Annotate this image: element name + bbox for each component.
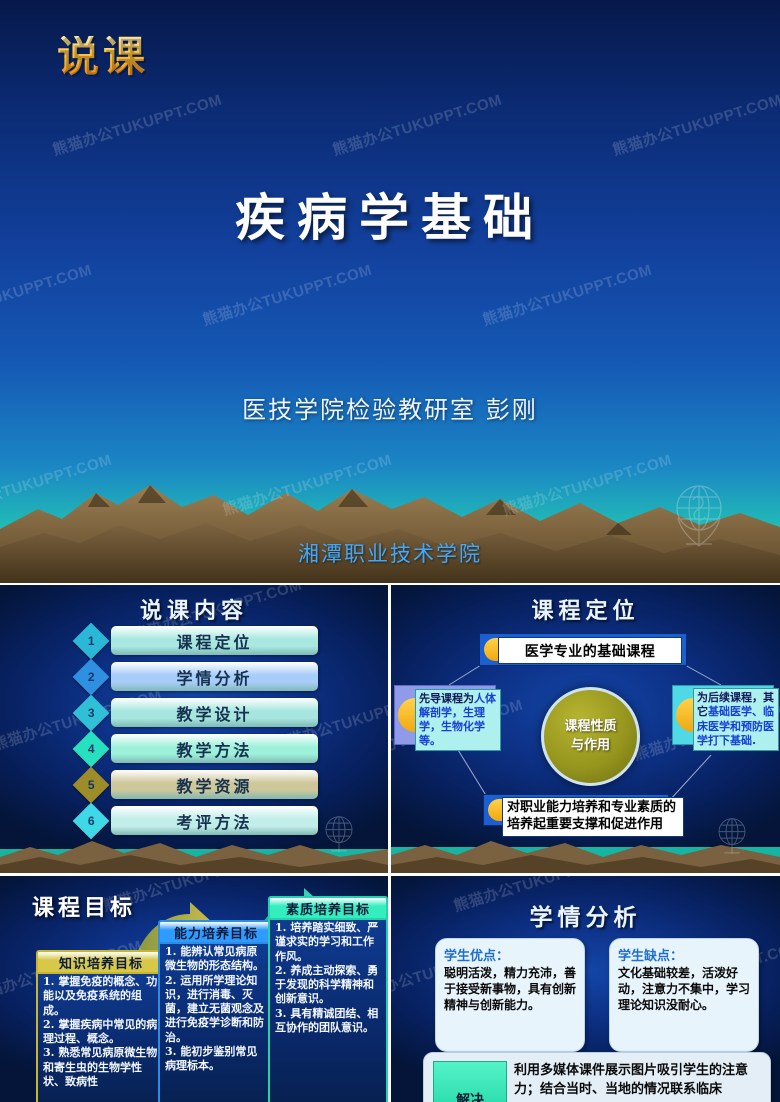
who-emblem-icon (316, 807, 362, 857)
author-line: 医技学院检验教研室 彭刚 (0, 390, 780, 425)
item-number-diamond: 1 (73, 623, 110, 660)
school-name: 湘潭职业技术学院 (0, 538, 780, 568)
contents-item-label: 教学设计 (176, 701, 252, 725)
pros-header: 学生优点： (444, 945, 576, 964)
item-number-diamond: 5 (73, 767, 110, 804)
solution-text: 利用多媒体课件展示图片吸引学生的注意力；结合当时、当地的情况联系临床 (514, 1062, 764, 1100)
item-number: 4 (88, 742, 95, 756)
contents-item-label: 考评方法 (176, 809, 252, 833)
goal-box-header-label: 知识培养目标 (59, 953, 143, 972)
position-right-box[interactable]: 为后续课程，其它基础医学、临床医学和预防医学打下基础. (672, 685, 774, 745)
contents-item-label: 教学方法 (176, 737, 252, 761)
contents-item-3[interactable]: 3教学设计 (78, 698, 318, 727)
goal-box-body: 1. 能辨认常见病原微生物的形态结构。2. 运用所学理论知识，进行消毒、灭菌，建… (160, 940, 272, 1074)
goal-box-header-label: 素质培养目标 (286, 899, 370, 918)
contents-item-label-bar[interactable]: 教学设计 (111, 698, 318, 727)
center-line-1: 课程性质 (564, 718, 616, 737)
slide-course-position[interactable]: 熊猫办公TUKUPPT.COM 熊猫办公TUKUPPT.COM 课程定位 医学专… (391, 585, 780, 873)
contents-item-label: 学情分析 (176, 665, 252, 689)
position-center-circle: 课程性质 与作用 (541, 687, 640, 786)
contents-item-4[interactable]: 4教学方法 (78, 734, 318, 763)
slide-title[interactable]: 熊猫办公TUKUPPT.COM 熊猫办公TUKUPPT.COM 熊猫办公TUKU… (0, 0, 780, 583)
slide-student-analysis[interactable]: 熊猫办公TUKUPPT.COM 熊猫办公TUKUPPT.COM 熊猫办公TUKU… (391, 876, 780, 1102)
goal-box-header: 能力培养目标 (158, 920, 274, 944)
position-top-box[interactable]: 医学专业的基础课程 (479, 633, 687, 666)
right-text-b: 基础医学、临床医学和预防医学打下基础. (697, 705, 774, 747)
goal-line: 2. 养成主动探索、勇于发现的科学精神和创新意识。 (275, 964, 381, 1007)
contents-item-label: 课程定位 (176, 629, 252, 653)
contents-list[interactable]: 1课程定位2学情分析3教学设计4教学方法5教学资源6考评方法 (78, 626, 318, 842)
contents-item-2[interactable]: 2学情分析 (78, 662, 318, 691)
contents-item-label-bar[interactable]: 教学资源 (111, 770, 318, 799)
item-number-diamond: 2 (73, 659, 110, 696)
goal-box-3[interactable]: 素质培养目标1. 培养踏实细致、严谨求实的学习和工作作风。2. 养成主动探索、勇… (268, 914, 388, 1102)
contents-item-label-bar[interactable]: 考评方法 (111, 806, 318, 835)
solution-box[interactable]: 解决 利用多媒体课件展示图片吸引学生的注意力；结合当时、当地的情况联系临床 (423, 1052, 771, 1102)
item-number-diamond: 6 (73, 803, 110, 840)
goal-line: 3. 熟悉常见病原微生物和寄生虫的生物学性状、致病性 (43, 1046, 159, 1089)
speech-lesson-logo: 说课 (57, 36, 149, 78)
slide-divider-vertical (388, 583, 391, 1102)
goal-line: 2. 运用所学理论知识，进行消毒、灭菌，建立无菌观念及进行免疫学诊断和防治。 (165, 974, 267, 1045)
item-number: 5 (88, 778, 95, 792)
goal-line: 1. 能辨认常见病原微生物的形态结构。 (165, 945, 267, 974)
student-cons-box[interactable]: 学生缺点： 文化基础较差，活泼好动，注意力不集中，学习理论知识没耐心。 (609, 938, 759, 1052)
item-number: 6 (88, 814, 95, 828)
slide-contents[interactable]: 熊猫办公TUKUPPT.COM 熊猫办公TUKUPPT.COM 熊猫办公TUKU… (0, 585, 388, 873)
position-bottom-box[interactable]: 对职业能力培养和专业素质的培养起重要支撑和促进作用 (483, 794, 669, 826)
position-bottom-text: 对职业能力培养和专业素质的培养起重要支撑和促进作用 (502, 797, 684, 837)
position-top-text: 医学专业的基础课程 (498, 637, 682, 664)
position-left-box[interactable]: 先导课程为人体解剖学，生理学，生物化学等。 (394, 685, 496, 745)
slide-course-goals[interactable]: 熊猫办公TUKUPPT.COM 熊猫办公TUKUPPT.COM 熊猫办公TUKU… (0, 876, 388, 1102)
slide2-title: 说课内容 (0, 593, 388, 625)
goal-line: 3. 具有精诚团结、相互协作的团队意识。 (275, 1007, 381, 1036)
position-left-text: 先导课程为人体解剖学，生理学，生物化学等。 (415, 689, 501, 751)
item-number-diamond: 3 (73, 695, 110, 732)
item-number-diamond: 4 (73, 731, 110, 768)
position-right-text: 为后续课程，其它基础医学、临床医学和预防医学打下基础. (693, 688, 779, 751)
slide-deck-preview: 熊猫办公TUKUPPT.COM 熊猫办公TUKUPPT.COM 熊猫办公TUKU… (0, 0, 780, 1102)
slide3-title: 课程定位 (391, 593, 780, 625)
slide5-title: 学情分析 (391, 898, 780, 932)
goal-box-1[interactable]: 知识培养目标1. 掌握免疫的概念、功能以及免疫系统的组成。2. 掌握疾病中常见的… (36, 968, 166, 1102)
goal-line: 2. 掌握疾病中常见的病理过程、概念。 (43, 1018, 159, 1047)
goal-box-body: 1. 培养踏实细致、严谨求实的学习和工作作风。2. 养成主动探索、勇于发现的科学… (270, 916, 386, 1035)
student-pros-box[interactable]: 学生优点： 聪明活泼，精力充沛，善于接受新事物，具有创新精神与创新能力。 (435, 938, 585, 1052)
contents-item-5[interactable]: 5教学资源 (78, 770, 318, 799)
item-number: 3 (88, 706, 95, 720)
goal-box-2[interactable]: 能力培养目标1. 能辨认常见病原微生物的形态结构。2. 运用所学理论知识，进行消… (158, 938, 274, 1102)
contents-item-label-bar[interactable]: 课程定位 (111, 626, 318, 655)
goal-box-header: 素质培养目标 (268, 896, 388, 920)
contents-item-label-bar[interactable]: 教学方法 (111, 734, 318, 763)
cons-text: 文化基础较差，活泼好动，注意力不集中，学习理论知识没耐心。 (618, 966, 750, 1013)
pros-text: 聪明活泼，精力充沛，善于接受新事物，具有创新精神与创新能力。 (444, 966, 576, 1013)
contents-item-label: 教学资源 (176, 773, 252, 797)
goal-box-header: 知识培养目标 (36, 950, 166, 974)
goal-line: 3. 能初步鉴别常见病理标本。 (165, 1045, 267, 1074)
cons-header: 学生缺点： (618, 945, 750, 964)
item-number: 2 (88, 670, 95, 684)
page-title: 疾病学基础 (0, 178, 780, 250)
solution-label: 解决 (433, 1061, 507, 1102)
slide4-title: 课程目标 (32, 890, 136, 922)
contents-item-1[interactable]: 1课程定位 (78, 626, 318, 655)
goal-line: 1. 掌握免疫的概念、功能以及免疫系统的组成。 (43, 975, 159, 1018)
contents-item-6[interactable]: 6考评方法 (78, 806, 318, 835)
goal-box-header-label: 能力培养目标 (174, 923, 258, 942)
left-text-a: 先导课程 (419, 692, 463, 705)
center-line-2: 与作用 (571, 737, 610, 756)
item-number: 1 (88, 634, 95, 648)
contents-item-label-bar[interactable]: 学情分析 (111, 662, 318, 691)
left-text-b: 为 (463, 692, 474, 705)
goal-box-body: 1. 掌握免疫的概念、功能以及免疫系统的组成。2. 掌握疾病中常见的病理过程、概… (38, 970, 164, 1089)
goal-line: 1. 培养踏实细致、严谨求实的学习和工作作风。 (275, 921, 381, 964)
